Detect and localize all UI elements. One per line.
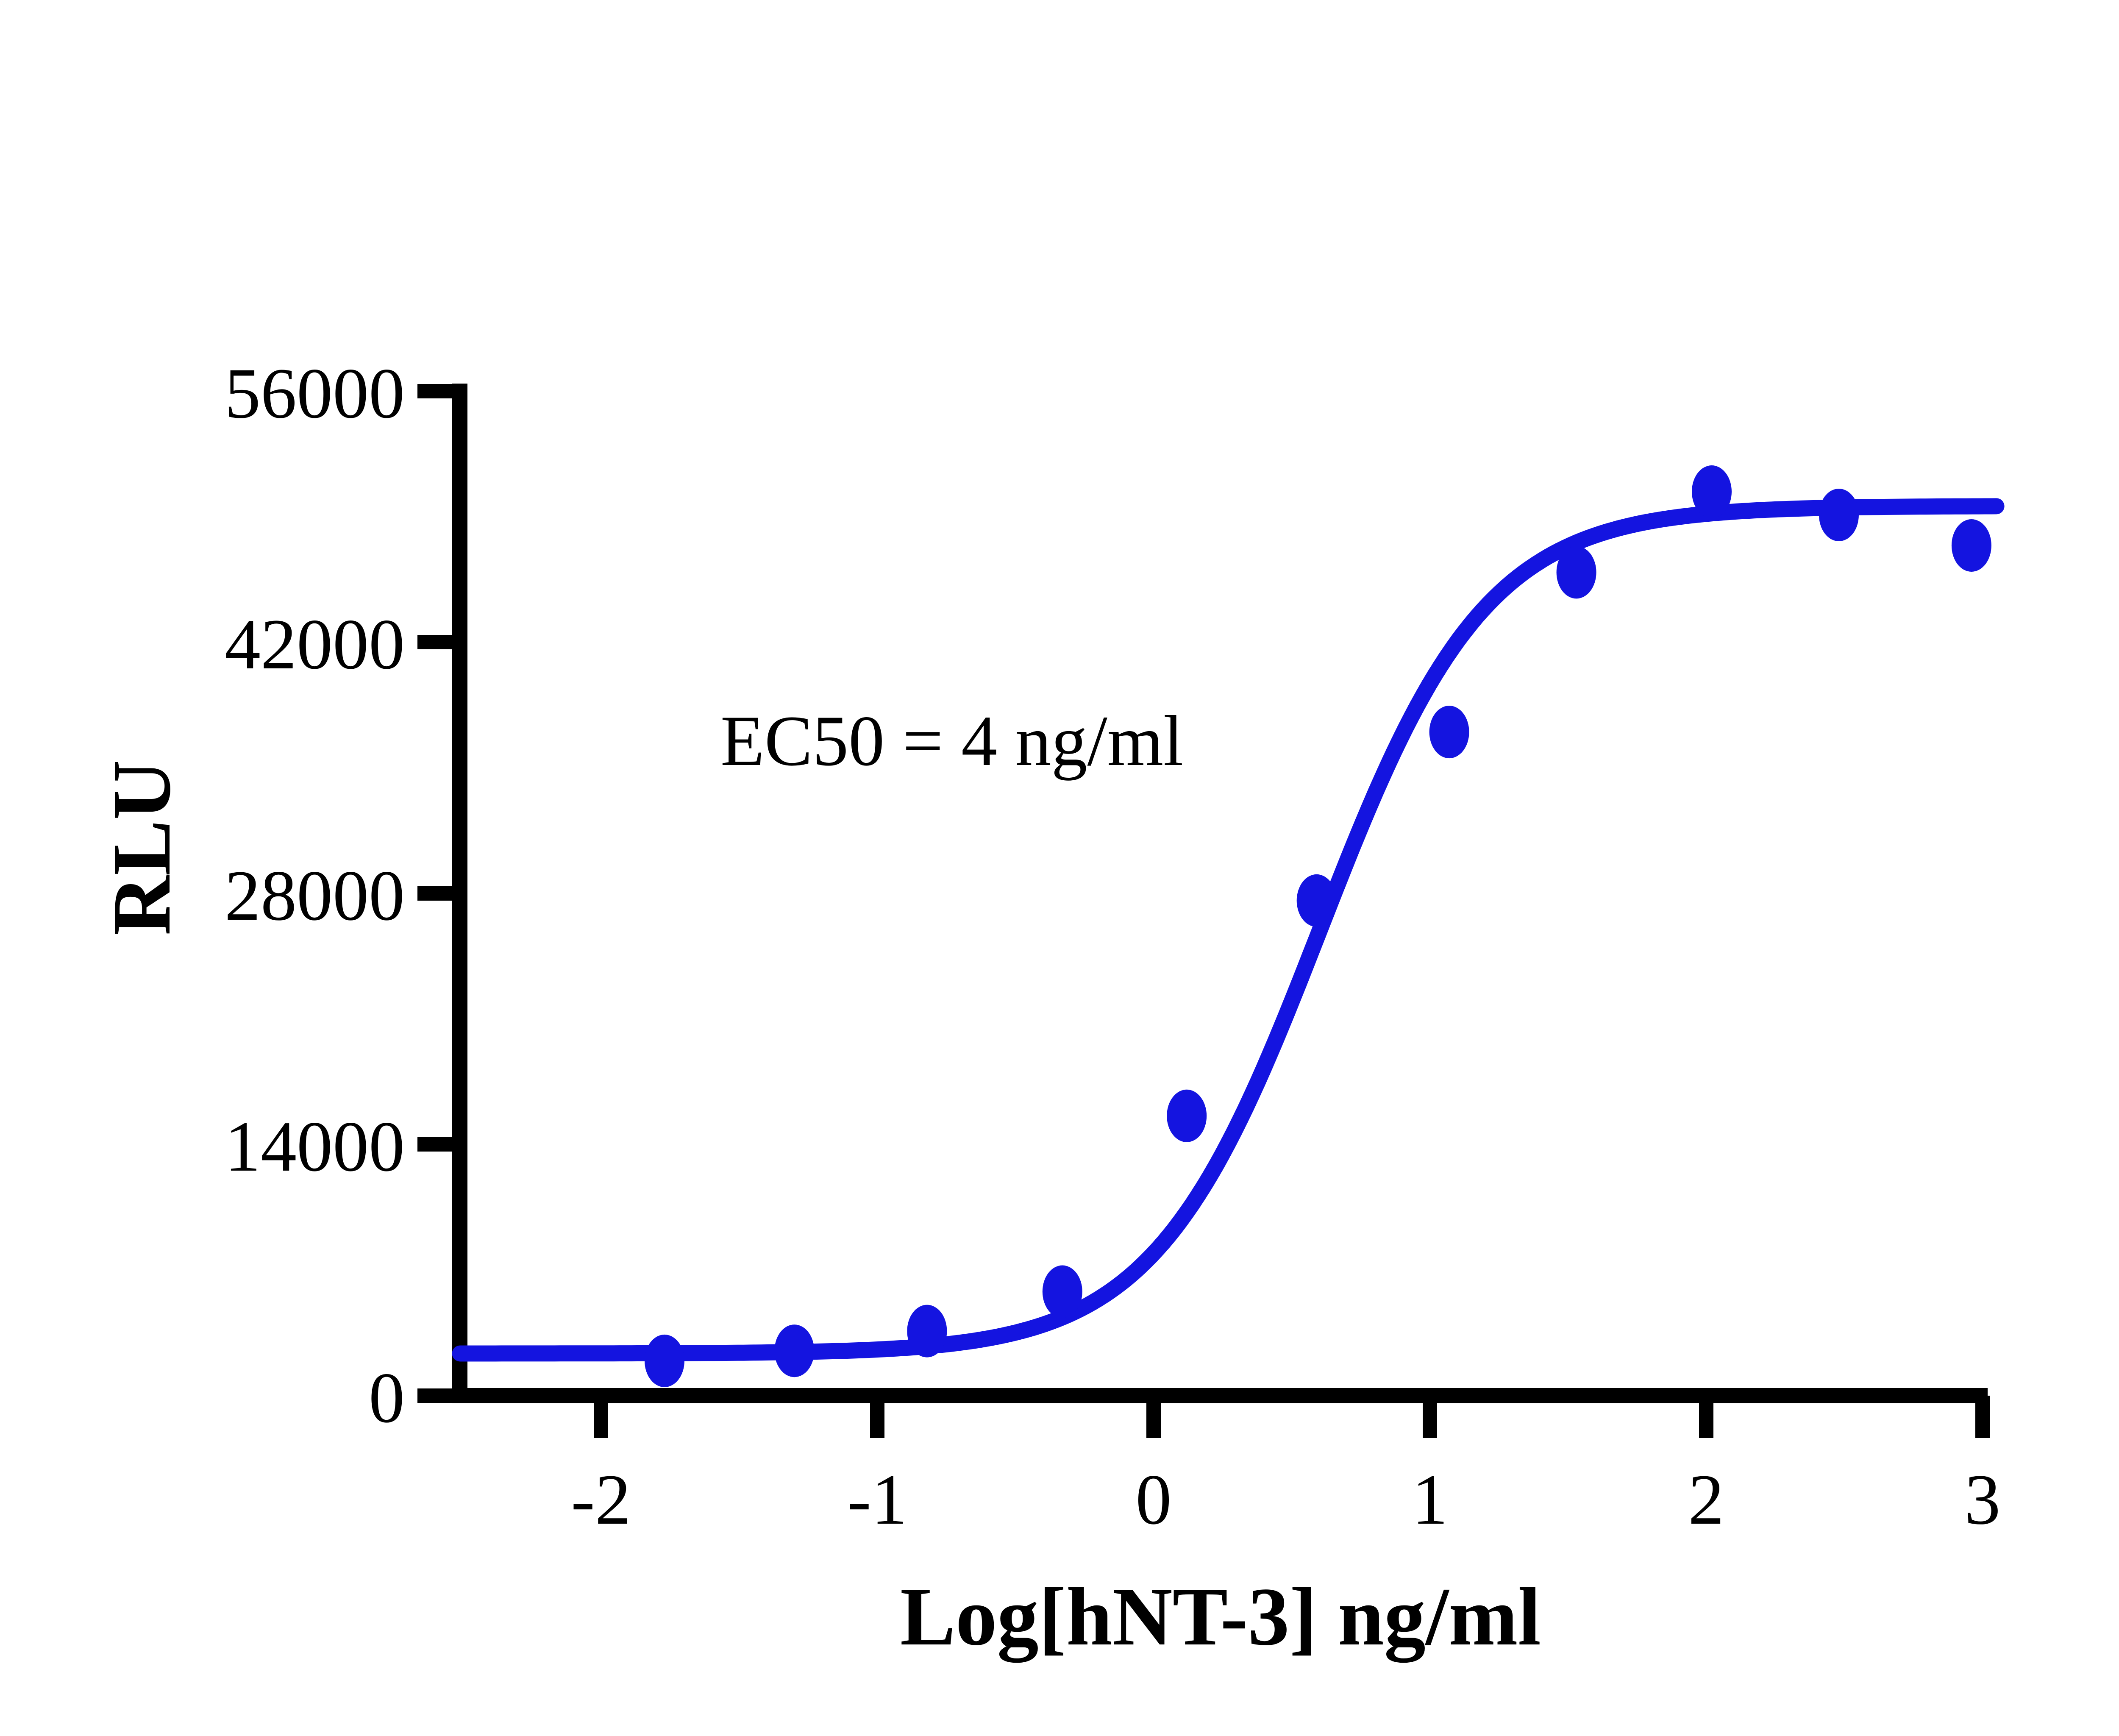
data-point [1819,489,1859,541]
dose-response-plot: 56000 42000 28000 14000 0 -2 -1 0 1 2 3 … [0,0,2119,1736]
x-tick-label-1: 1 [1412,1460,1448,1539]
x-tick-label-0: 0 [1136,1460,1172,1539]
x-tick-label-minus2: -2 [571,1460,631,1539]
data-point [1297,874,1337,927]
y-tick-label-14000: 14000 [225,1107,405,1186]
y-tick-label-42000: 42000 [225,604,405,684]
x-tick-label-2: 2 [1688,1460,1724,1539]
x-axis-title: Log[hNT-3] ng/ml [900,1571,1541,1663]
data-point [1429,706,1469,758]
data-point [774,1324,814,1377]
x-tick-label-3: 3 [1965,1460,2001,1539]
data-point [1952,519,1991,572]
data-point [1167,1090,1207,1142]
data-point [1043,1266,1082,1318]
ec50-annotation: EC50 = 4 ng/ml [720,701,1183,781]
data-point [1557,546,1596,598]
y-axis-title: RLU [96,760,188,935]
x-tick-label-minus1: -1 [847,1460,907,1539]
y-tick-label-28000: 28000 [225,856,405,935]
data-point [907,1305,947,1358]
y-tick-label-0: 0 [369,1358,405,1438]
chart-figure: Dose Response of Recombinant Human NT-3 … [0,0,2119,1736]
data-point [645,1335,684,1387]
data-point [1692,465,1732,518]
y-tick-label-56000: 56000 [225,353,405,433]
